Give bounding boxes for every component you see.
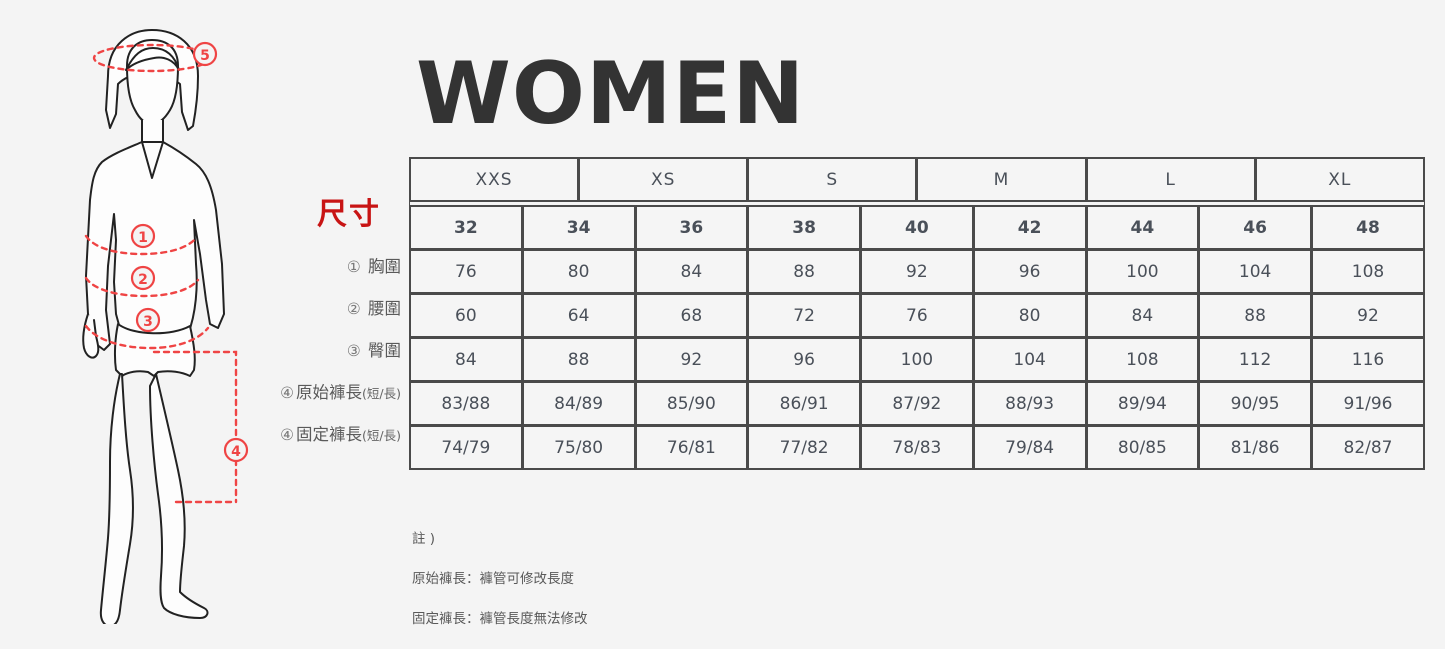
marker-3-icon: ③ (347, 342, 363, 360)
figure-marker-3-label: 3 (143, 314, 153, 330)
size-chart-table-container: XXSXSSMLXL 323436384042444648 7680848892… (409, 157, 1425, 470)
table-cell: 89/94 (1087, 382, 1199, 425)
numeric-size-cell-36: 36 (636, 206, 748, 249)
figure-marker-5-label: 5 (200, 48, 210, 64)
row-label-waist: ② 腰圍 (232, 288, 407, 330)
figure-marker-2: 2 (132, 267, 154, 289)
measurement-labels-panel: 尺寸 ① 胸圍 ② 腰圍 ③ 臀圍 ④原始褲長(短/長) ④固定褲長(短/長) (232, 190, 407, 470)
marker-4a-icon: ④ (280, 384, 296, 402)
table-cell: 80 (523, 250, 635, 293)
table-cell: 80/85 (1087, 426, 1199, 469)
size-label-cell-xl: XL (1256, 158, 1424, 201)
size-label-cell-s: S (748, 158, 916, 201)
table-cell: 60 (410, 294, 522, 337)
row-label-fixed-length: ④固定褲長(短/長) (232, 414, 407, 456)
figure-marker-3: 3 (137, 309, 159, 331)
footnote-line-1: 註 ) (412, 529, 588, 549)
table-cell: 74/79 (410, 426, 522, 469)
table-cell: 84 (636, 250, 748, 293)
size-label-cell-xxs: XXS (410, 158, 578, 201)
table-cell: 64 (523, 294, 635, 337)
marker-1-icon: ① (347, 258, 363, 276)
spacer-cell (410, 202, 1424, 205)
table-cell: 76 (861, 294, 973, 337)
row-label-original-length-text: 原始褲長 (296, 383, 362, 402)
row-label-original-length-suffix: (短/長) (362, 386, 401, 401)
table-row-numeric-sizes: 323436384042444648 (410, 206, 1424, 249)
table-cell: 80 (974, 294, 1086, 337)
table-cell: 96 (748, 338, 860, 381)
footnote-line-2: 原始褲長：褲管可修改長度 (412, 569, 588, 589)
size-chart-table-body: XXSXSSMLXL 323436384042444648 7680848892… (410, 158, 1424, 469)
footnote-line-3: 固定褲長：褲管長度無法修改 (412, 609, 588, 629)
size-label-cell-m: M (917, 158, 1085, 201)
table-cell: 76 (410, 250, 522, 293)
table-cell: 85/90 (636, 382, 748, 425)
row-label-bust: ① 胸圍 (232, 246, 407, 288)
size-heading: 尺寸 (232, 190, 407, 246)
table-row: 606468727680848892 (410, 294, 1424, 337)
table-cell: 92 (636, 338, 748, 381)
numeric-size-cell-42: 42 (974, 206, 1086, 249)
table-cell: 100 (861, 338, 973, 381)
row-label-bust-text: 胸圍 (368, 257, 401, 276)
table-cell: 88 (748, 250, 860, 293)
table-row: 83/8884/8985/9086/9187/9288/9389/9490/95… (410, 382, 1424, 425)
table-cell: 88 (523, 338, 635, 381)
table-row: 768084889296100104108 (410, 250, 1424, 293)
marker-2-icon: ② (347, 300, 363, 318)
table-cell: 77/82 (748, 426, 860, 469)
footnote: 註 ) 原始褲長：褲管可修改長度 固定褲長：褲管長度無法修改 (412, 509, 588, 649)
table-cell: 84 (1087, 294, 1199, 337)
table-cell: 116 (1312, 338, 1424, 381)
table-cell: 78/83 (861, 426, 973, 469)
numeric-size-cell-44: 44 (1087, 206, 1199, 249)
table-cell: 75/80 (523, 426, 635, 469)
table-cell: 112 (1199, 338, 1311, 381)
figure-marker-1-label: 1 (138, 230, 148, 246)
table-row: 74/7975/8076/8177/8278/8379/8480/8581/86… (410, 426, 1424, 469)
row-label-fixed-length-suffix: (短/長) (362, 428, 401, 443)
table-cell: 79/84 (974, 426, 1086, 469)
row-label-original-length: ④原始褲長(短/長) (232, 372, 407, 414)
size-label-cell-l: L (1087, 158, 1255, 201)
row-label-hip: ③ 臀圍 (232, 330, 407, 372)
page-title: WOMEN (416, 46, 805, 142)
table-cell: 108 (1312, 250, 1424, 293)
page-title-text: WOMEN (416, 44, 805, 144)
table-row-spacer (410, 202, 1424, 205)
table-cell: 92 (1312, 294, 1424, 337)
row-label-waist-text: 腰圍 (368, 299, 401, 318)
table-cell: 72 (748, 294, 860, 337)
figure-marker-1: 1 (132, 225, 154, 247)
table-cell: 100 (1087, 250, 1199, 293)
numeric-size-cell-38: 38 (748, 206, 860, 249)
table-cell: 90/95 (1199, 382, 1311, 425)
table-cell: 87/92 (861, 382, 973, 425)
row-label-hip-text: 臀圍 (368, 341, 401, 360)
table-cell: 91/96 (1312, 382, 1424, 425)
table-cell: 81/86 (1199, 426, 1311, 469)
row-label-fixed-length-text: 固定褲長 (296, 425, 362, 444)
table-cell: 86/91 (748, 382, 860, 425)
table-cell: 68 (636, 294, 748, 337)
marker-4b-icon: ④ (280, 426, 296, 444)
table-cell: 92 (861, 250, 973, 293)
table-cell: 82/87 (1312, 426, 1424, 469)
table-cell: 84/89 (523, 382, 635, 425)
table-cell: 96 (974, 250, 1086, 293)
table-cell: 88/93 (974, 382, 1086, 425)
numeric-size-cell-32: 32 (410, 206, 522, 249)
table-cell: 108 (1087, 338, 1199, 381)
table-cell: 83/88 (410, 382, 522, 425)
figure-marker-2-label: 2 (138, 272, 148, 288)
numeric-size-cell-40: 40 (861, 206, 973, 249)
table-row-size-labels: XXSXSSMLXL (410, 158, 1424, 201)
table-cell: 104 (1199, 250, 1311, 293)
table-cell: 76/81 (636, 426, 748, 469)
figure-marker-5: 5 (194, 43, 216, 65)
numeric-size-cell-48: 48 (1312, 206, 1424, 249)
numeric-size-cell-34: 34 (523, 206, 635, 249)
table-cell: 104 (974, 338, 1086, 381)
size-label-cell-xs: XS (579, 158, 747, 201)
table-row: 84889296100104108112116 (410, 338, 1424, 381)
size-chart-table: XXSXSSMLXL 323436384042444648 7680848892… (409, 157, 1425, 470)
table-cell: 88 (1199, 294, 1311, 337)
table-cell: 84 (410, 338, 522, 381)
numeric-size-cell-46: 46 (1199, 206, 1311, 249)
